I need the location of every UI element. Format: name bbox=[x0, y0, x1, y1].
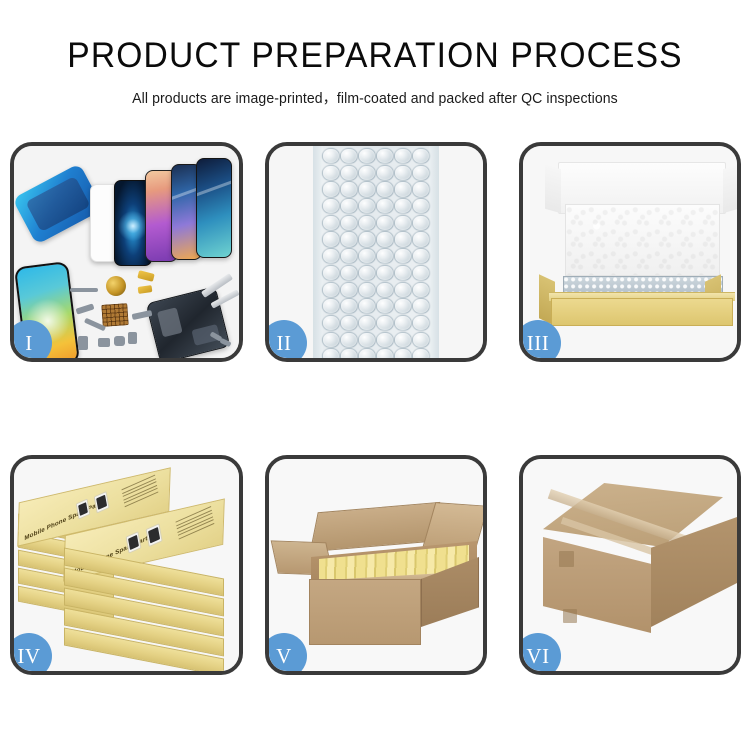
product-preparation-infographic: PRODUCT PREPARATION PROCESS All products… bbox=[0, 0, 750, 750]
logic-board-chip bbox=[101, 303, 128, 327]
bubble-cell bbox=[358, 332, 376, 348]
carton-corner-patch bbox=[559, 551, 574, 567]
bubble-cell bbox=[322, 315, 340, 331]
step-badge-2: II bbox=[265, 320, 307, 362]
foam-sheet bbox=[565, 204, 720, 276]
step-badge-4-label: IV bbox=[17, 644, 40, 669]
step-badge-3: III bbox=[519, 320, 561, 362]
bubble-cell bbox=[358, 181, 376, 197]
sim-tray-part bbox=[128, 332, 137, 344]
bubble-cell bbox=[412, 282, 430, 298]
bubble-cell bbox=[394, 332, 412, 348]
step-badge-1: I bbox=[10, 320, 52, 362]
bubble-cell bbox=[394, 165, 412, 181]
bubble-cell bbox=[358, 231, 376, 247]
box-checklist bbox=[176, 506, 215, 542]
bubble-cell bbox=[376, 315, 394, 331]
steps-grid: I II bbox=[0, 0, 750, 750]
bubble-cell bbox=[376, 248, 394, 264]
box-checklist bbox=[122, 475, 159, 510]
step-badge-5-label: V bbox=[276, 644, 292, 669]
step-3-image bbox=[523, 146, 737, 358]
bubble-cell bbox=[340, 282, 358, 298]
bubble-cell bbox=[340, 298, 358, 314]
bubble-cell bbox=[376, 332, 394, 348]
bubble-cell bbox=[340, 215, 358, 231]
bubble-cell bbox=[376, 181, 394, 197]
box-screen-image bbox=[126, 531, 142, 554]
bubble-cell bbox=[394, 298, 412, 314]
bubble-cell bbox=[376, 231, 394, 247]
bubble-cell bbox=[322, 231, 340, 247]
bubble-cell bbox=[394, 231, 412, 247]
cyan-wave-phone bbox=[196, 158, 232, 258]
bubble-cell bbox=[376, 348, 394, 358]
bubble-cell bbox=[340, 315, 358, 331]
battery-connector-part bbox=[78, 336, 88, 350]
bubble-cell bbox=[322, 198, 340, 214]
taptic-engine-part bbox=[114, 336, 125, 346]
vibration-motor-part bbox=[106, 276, 126, 296]
step-panel-1: I bbox=[10, 142, 243, 362]
bubble-cell bbox=[358, 315, 376, 331]
bubble-cell bbox=[376, 265, 394, 281]
bubble-cell bbox=[358, 198, 376, 214]
carton-front-panel bbox=[309, 579, 421, 645]
bubble-cell bbox=[412, 248, 430, 264]
bubble-cell bbox=[394, 148, 412, 164]
bubble-cell bbox=[394, 198, 412, 214]
bubble-cell bbox=[412, 298, 430, 314]
step-panel-3: III bbox=[519, 142, 741, 362]
step-panel-2: II bbox=[265, 142, 487, 362]
bubble-cell bbox=[394, 315, 412, 331]
bubble-cell bbox=[322, 215, 340, 231]
bubble-cell bbox=[358, 148, 376, 164]
bubble-cell bbox=[376, 198, 394, 214]
bubble-cell bbox=[322, 165, 340, 181]
bubble-cell bbox=[340, 165, 358, 181]
box-screen-image bbox=[94, 491, 110, 514]
step-badge-6: VI bbox=[519, 633, 561, 675]
bubble-cell bbox=[322, 248, 340, 264]
bubble-cell bbox=[358, 282, 376, 298]
bubble-wrap-pouch bbox=[313, 146, 439, 358]
step-badge-5: V bbox=[265, 633, 307, 675]
bubble-cell bbox=[322, 282, 340, 298]
bubble-cell bbox=[322, 265, 340, 281]
bubble-cell bbox=[358, 265, 376, 281]
camera-module-part bbox=[98, 338, 110, 347]
step-panel-5: V bbox=[265, 455, 487, 675]
bubble-cell bbox=[376, 298, 394, 314]
bubble-grid bbox=[322, 148, 430, 358]
bubble-cell bbox=[412, 198, 430, 214]
step-panel-6: VI bbox=[519, 455, 741, 675]
speaker-mesh-part bbox=[70, 288, 98, 292]
bubble-cell bbox=[358, 215, 376, 231]
bubble-cell bbox=[322, 332, 340, 348]
bubble-cell bbox=[340, 332, 358, 348]
bubble-cell bbox=[412, 332, 430, 348]
box-stack: Mobile Phone Spare Parts Mobile Phone Sp… bbox=[18, 479, 232, 669]
bubble-cell bbox=[376, 148, 394, 164]
step-6-image bbox=[523, 459, 737, 671]
bubble-cell bbox=[358, 298, 376, 314]
bubble-cell bbox=[412, 148, 430, 164]
bubble-cell bbox=[340, 148, 358, 164]
bubble-cell bbox=[340, 265, 358, 281]
step-badge-2-label: II bbox=[277, 331, 292, 356]
bubble-cell bbox=[412, 215, 430, 231]
bubble-cell bbox=[340, 248, 358, 264]
bubble-cell bbox=[376, 165, 394, 181]
bubble-cell bbox=[358, 348, 376, 358]
box-front-panel bbox=[551, 298, 733, 326]
step-4-image: Mobile Phone Spare Parts Mobile Phone Sp… bbox=[14, 459, 239, 671]
bubble-cell bbox=[394, 265, 412, 281]
pouch-right-seal bbox=[429, 146, 439, 358]
box-screen-image bbox=[76, 498, 91, 519]
step-panel-4: Mobile Phone Spare Parts Mobile Phone Sp… bbox=[10, 455, 243, 675]
bubble-cell bbox=[394, 215, 412, 231]
bubble-cell bbox=[394, 348, 412, 358]
carton-corner-patch bbox=[563, 609, 577, 623]
bubble-cell bbox=[340, 198, 358, 214]
bubble-cell bbox=[412, 265, 430, 281]
bubble-cell bbox=[394, 282, 412, 298]
bubble-cell bbox=[322, 348, 340, 358]
box-screen-image bbox=[146, 523, 163, 547]
step-badge-6-label: VI bbox=[526, 644, 549, 669]
step-badge-3-label: III bbox=[527, 331, 549, 356]
bubble-cell bbox=[322, 148, 340, 164]
bubble-cell bbox=[376, 215, 394, 231]
step-badge-4: IV bbox=[10, 633, 52, 675]
bubble-cell bbox=[412, 348, 430, 358]
bubble-cell bbox=[340, 231, 358, 247]
step-5-image bbox=[269, 459, 483, 671]
step-badge-1-label: I bbox=[25, 331, 33, 356]
bubble-cell bbox=[412, 231, 430, 247]
bubble-cell bbox=[358, 165, 376, 181]
bubble-cell bbox=[340, 181, 358, 197]
step-2-image bbox=[269, 146, 483, 358]
bubble-cell bbox=[340, 348, 358, 358]
bubble-cell bbox=[322, 181, 340, 197]
bubble-cell bbox=[412, 315, 430, 331]
step-1-image bbox=[14, 146, 239, 358]
bubble-cell bbox=[322, 298, 340, 314]
bubble-cell bbox=[412, 165, 430, 181]
bubble-cell bbox=[412, 181, 430, 197]
bubble-cell bbox=[358, 248, 376, 264]
bubble-cell bbox=[394, 248, 412, 264]
bubble-cell bbox=[376, 282, 394, 298]
bubble-cell bbox=[394, 181, 412, 197]
